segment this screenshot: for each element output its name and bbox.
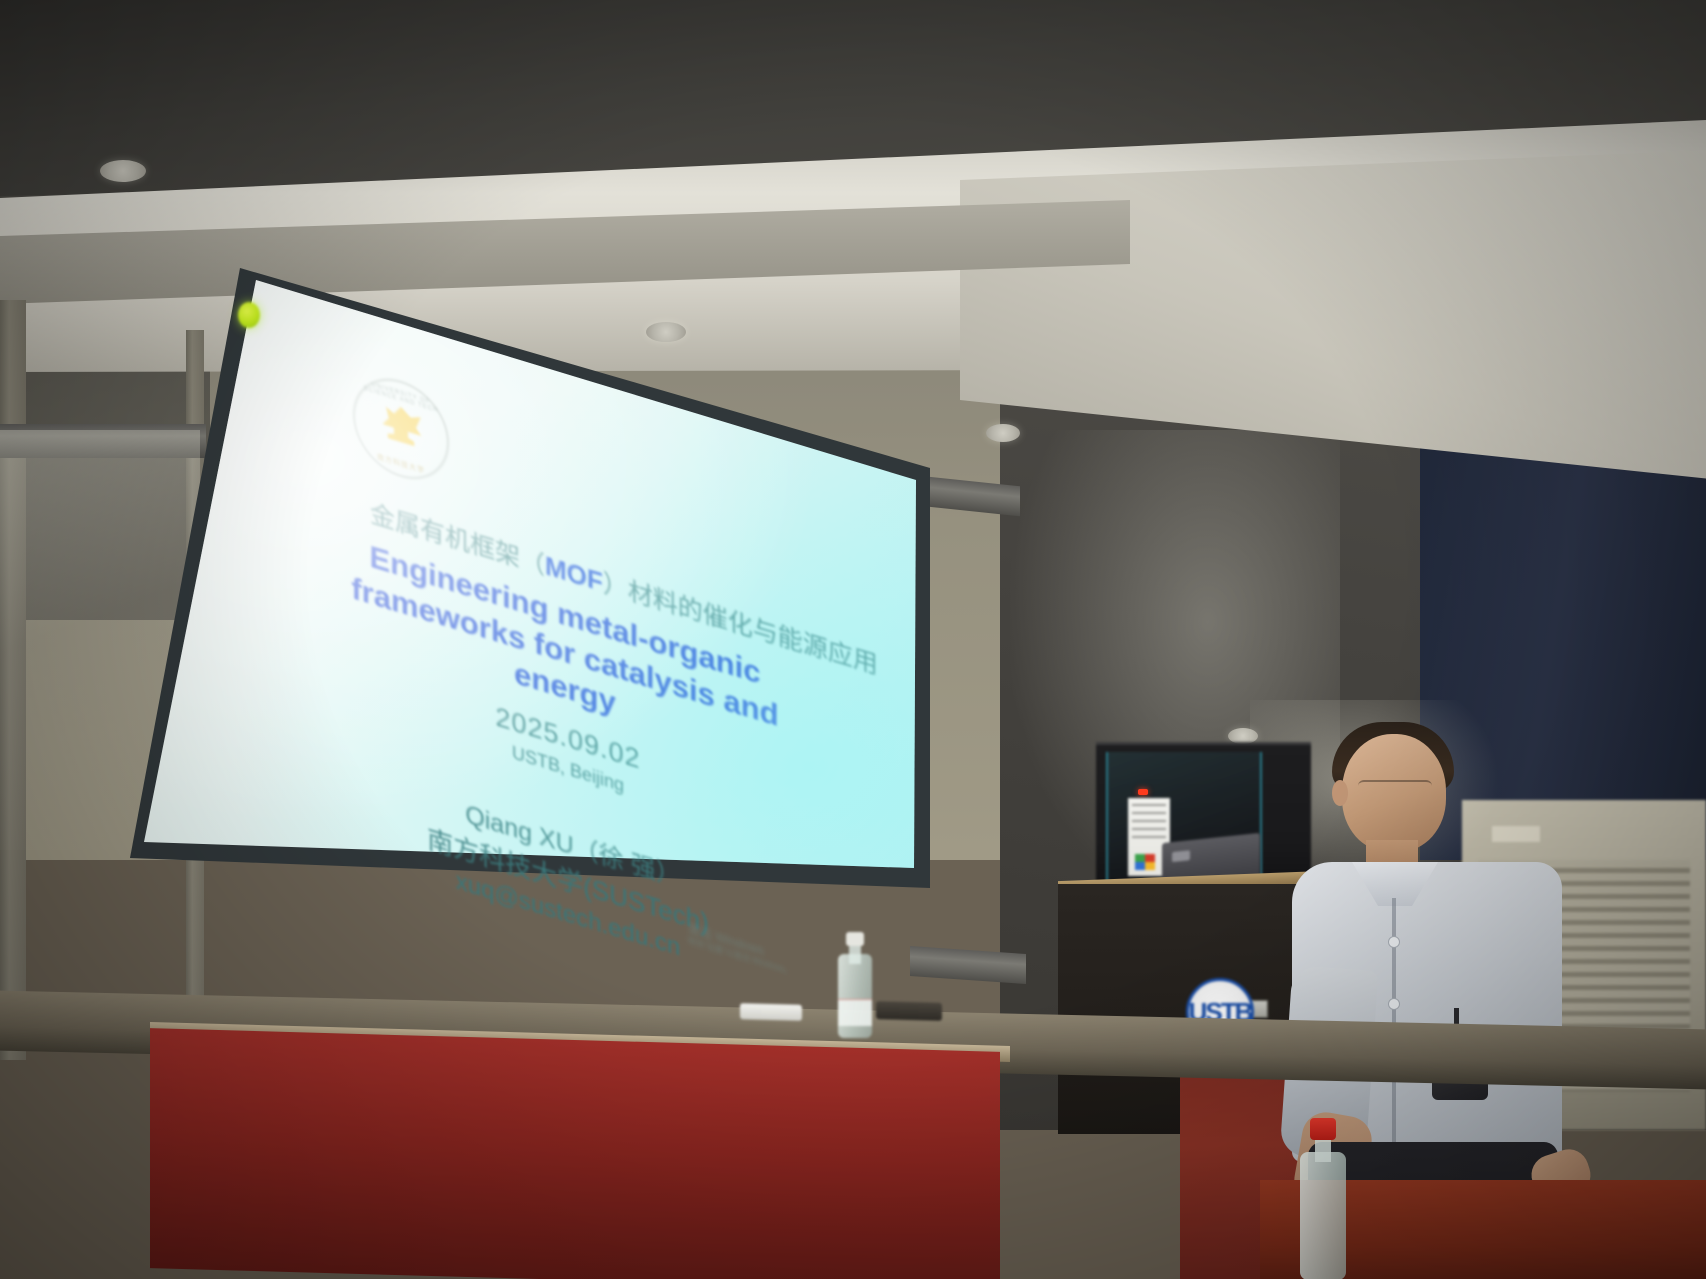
- shirt-button: [1388, 936, 1400, 948]
- shirt-button: [1388, 998, 1400, 1010]
- power-led-icon: [1138, 789, 1148, 795]
- water-bottle-red-cap[interactable]: [1300, 1118, 1346, 1279]
- ceiling-downlight: [986, 424, 1020, 442]
- presenter-ear: [1332, 780, 1348, 806]
- logo-ring-text-bottom: 南方科技大学: [355, 445, 447, 483]
- dark-device-on-table[interactable]: [876, 1001, 942, 1021]
- ceiling-downlight: [646, 322, 686, 342]
- lecture-hall-photo: UNIVERSITY OF SCIENCE AND TECH 南方科技大学 金属…: [0, 0, 1706, 1279]
- green-laser-dot-icon: [238, 302, 260, 328]
- sustech-torch-logo: UNIVERSITY OF SCIENCE AND TECH 南方科技大学: [353, 367, 449, 492]
- presenter-eyeglasses: [1358, 780, 1432, 798]
- color-swatch-icon: [1135, 854, 1155, 870]
- water-bottle[interactable]: [838, 930, 872, 1038]
- slide-mof-abbr: MOF: [545, 550, 603, 597]
- laptop-lid-badge: [1172, 850, 1190, 862]
- remote-control[interactable]: [740, 1003, 802, 1021]
- conference-table-front: [150, 1028, 1000, 1279]
- tissue-on-table: [1412, 1196, 1482, 1279]
- torch-icon: [379, 400, 423, 457]
- ceiling-downlight: [100, 160, 146, 182]
- bottle-cap: [1310, 1118, 1336, 1140]
